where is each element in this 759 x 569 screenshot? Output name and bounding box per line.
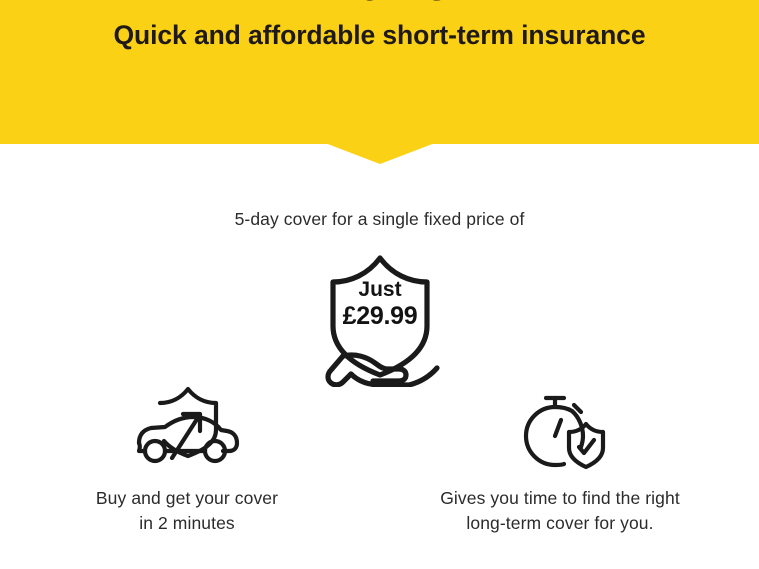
price-lead-text: 5-day cover for a single fixed price of [0, 209, 759, 230]
feature-caption-line: Buy and get your cover [27, 486, 347, 511]
shield-in-hand-icon [313, 252, 447, 387]
stopwatch-shield-check-icon [400, 386, 720, 474]
feature-buy-quickly: Buy and get your cover in 2 minutes [27, 386, 347, 536]
feature-caption-line: Gives you time to find the right [400, 486, 720, 511]
feature-time-to-find: Gives you time to find the right long-te… [400, 386, 720, 536]
feature-time-to-find-caption: Gives you time to find the right long-te… [400, 486, 720, 536]
banner-headline-clipped: Buying [0, 0, 759, 2]
infographic-page: Buying Quick and affordable short-term i… [0, 0, 759, 569]
feature-caption-line: in 2 minutes [27, 511, 347, 536]
car-shield-arrow-icon [27, 386, 347, 474]
feature-buy-quickly-caption: Buy and get your cover in 2 minutes [27, 486, 347, 536]
feature-caption-line: long-term cover for you. [400, 511, 720, 536]
banner-subtitle: Quick and affordable short-term insuranc… [0, 20, 759, 51]
yellow-banner: Buying Quick and affordable short-term i… [0, 0, 759, 144]
triangle-down-icon [325, 143, 435, 164]
